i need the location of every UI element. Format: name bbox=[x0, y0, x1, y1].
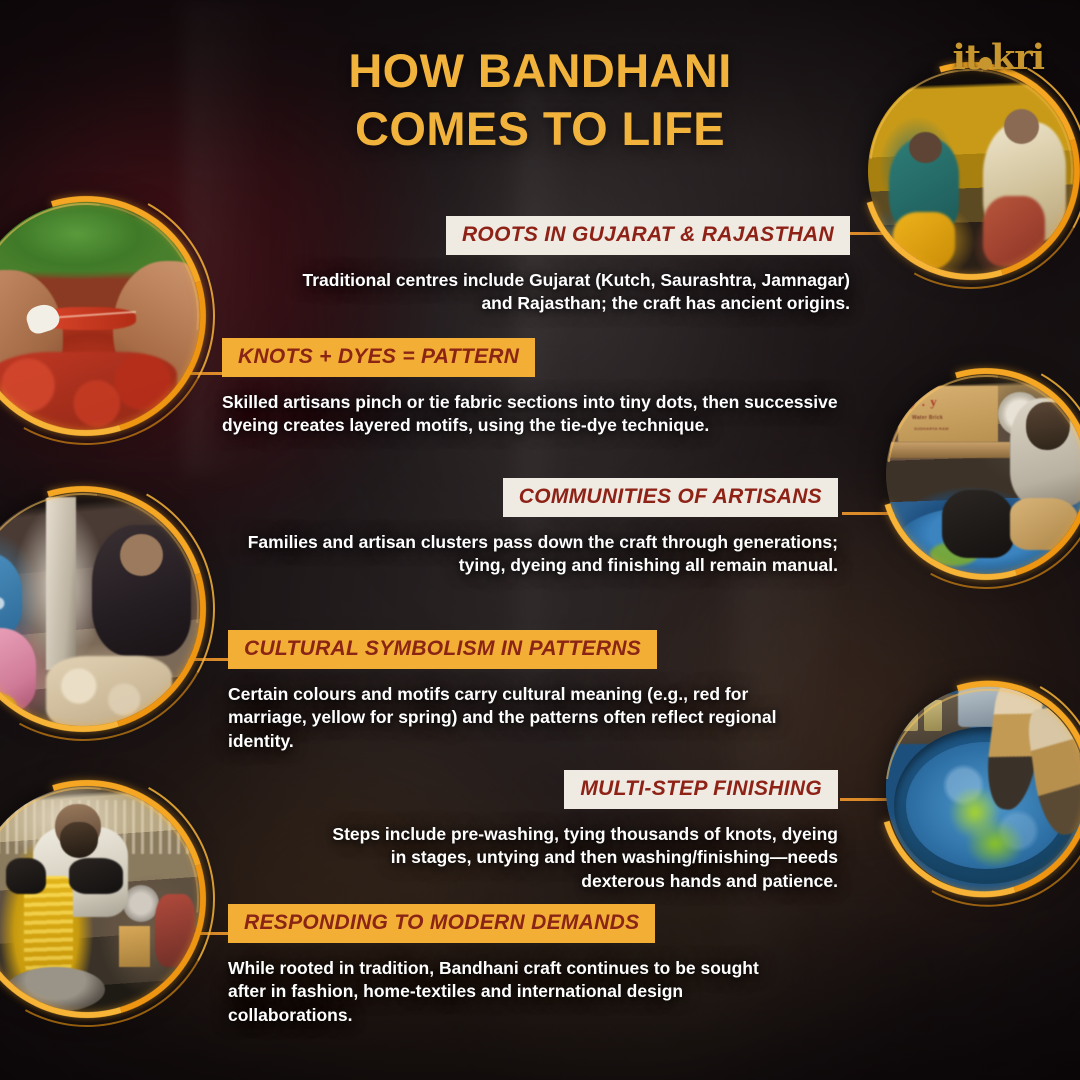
section-modern-demands: RESPONDING TO MODERN DEMANDS While roote… bbox=[228, 904, 848, 1027]
photo-man-lifting-yellow-fabric bbox=[0, 786, 200, 1012]
photo-hands-tying-red-fabric bbox=[0, 202, 200, 430]
photo-detail-cloth-red bbox=[983, 196, 1045, 266]
photo-dyer-blue-tub-image: y . y Water Brick SUDHARYA RAM bbox=[886, 374, 1080, 574]
section-communities-body: Families and artisan clusters pass down … bbox=[234, 531, 838, 578]
photo-detail-red-pile bbox=[0, 352, 177, 430]
photo-detail-jar-right bbox=[924, 700, 942, 731]
photo-detail-pillar bbox=[46, 497, 76, 670]
section-cultural-symbolism-heading: CULTURAL SYMBOLISM IN PATTERNS bbox=[228, 630, 657, 669]
photo-man-lifting-yellow-fabric-image bbox=[0, 786, 200, 1012]
photo-blue-dye-vat bbox=[886, 686, 1080, 892]
section-knots-dyes-heading: KNOTS + DYES = PATTERN bbox=[222, 338, 535, 377]
photo-hands-tying-red-fabric-image bbox=[0, 202, 200, 430]
photo-detail-black-gloves bbox=[942, 490, 1014, 558]
section-knots-dyes: KNOTS + DYES = PATTERN Skilled artisans … bbox=[222, 338, 842, 438]
page-title-line-2: COMES TO LIFE bbox=[0, 100, 1080, 158]
photo-detail-metal-vat bbox=[6, 967, 105, 1012]
page-title-line-1: HOW BANDHANI bbox=[0, 42, 1080, 100]
photo-detail-jar-left bbox=[898, 705, 918, 732]
section-cultural-symbolism-body: Certain colours and motifs carry cultura… bbox=[228, 683, 788, 753]
itokri-logo-text: it bbox=[953, 37, 980, 78]
section-roots-body: Traditional centres include Gujarat (Kut… bbox=[270, 269, 850, 316]
section-knots-dyes-body: Skilled artisans pinch or tie fabric sec… bbox=[222, 391, 852, 438]
photo-blue-dye-vat-image bbox=[886, 686, 1080, 892]
section-multi-step-finishing: MULTI-STEP FINISHING Steps include pre-w… bbox=[450, 770, 838, 893]
photo-detail-plank bbox=[890, 442, 1010, 458]
section-communities-heading: COMMUNITIES OF ARTISANS bbox=[503, 478, 838, 517]
photo-sign-sub-line: Water Brick bbox=[912, 415, 943, 421]
photo-detail-dyer-beard bbox=[1026, 402, 1070, 450]
photo-detail-seated-person bbox=[155, 894, 196, 966]
photo-sign-brand-line: y . y bbox=[910, 394, 938, 410]
photo-dyer-blue-tub: y . y Water Brick SUDHARYA RAM bbox=[886, 374, 1080, 574]
page-title: HOW BANDHANI COMES TO LIFE bbox=[0, 42, 1080, 158]
section-multi-step-finishing-body: Steps include pre-washing, tying thousan… bbox=[318, 823, 838, 893]
photo-detail-face bbox=[120, 534, 162, 576]
photo-detail-sari-blue bbox=[0, 553, 22, 637]
photo-detail-glove-right bbox=[69, 858, 123, 894]
section-modern-demands-heading: RESPONDING TO MODERN DEMANDS bbox=[228, 904, 655, 943]
photo-detail-cream-fabric bbox=[46, 656, 172, 726]
photo-detail-cloth-bundle bbox=[1010, 498, 1078, 550]
photo-detail-wooden-sign: y . y Water Brick SUDHARYA RAM bbox=[898, 386, 998, 442]
section-roots: ROOTS IN GUJARAT & RAJASTHAN Traditional… bbox=[370, 216, 850, 316]
itokri-logo-text-tail: kri bbox=[991, 37, 1044, 78]
photo-detail-fan bbox=[123, 885, 159, 921]
photo-detail-cloth-yellow bbox=[893, 212, 955, 270]
section-cultural-symbolism: CULTURAL SYMBOLISM IN PATTERNS Certain c… bbox=[228, 630, 844, 753]
photo-artisan-women-cream-fabric-image bbox=[0, 492, 200, 726]
photo-detail-glove-left bbox=[6, 858, 47, 894]
photo-detail-stool bbox=[119, 926, 151, 967]
photo-sign-fine-line: SUDHARYA RAM bbox=[914, 426, 949, 431]
section-communities: COMMUNITIES OF ARTISANS Families and art… bbox=[380, 478, 838, 578]
section-modern-demands-body: While rooted in tradition, Bandhani craf… bbox=[228, 957, 788, 1027]
photo-artisan-women-cream-fabric bbox=[0, 492, 200, 726]
itokri-logo[interactable]: itkri bbox=[953, 40, 1044, 75]
itokri-logo-dot-icon bbox=[979, 57, 992, 70]
section-multi-step-finishing-heading: MULTI-STEP FINISHING bbox=[564, 770, 838, 809]
section-roots-heading: ROOTS IN GUJARAT & RAJASTHAN bbox=[446, 216, 850, 255]
